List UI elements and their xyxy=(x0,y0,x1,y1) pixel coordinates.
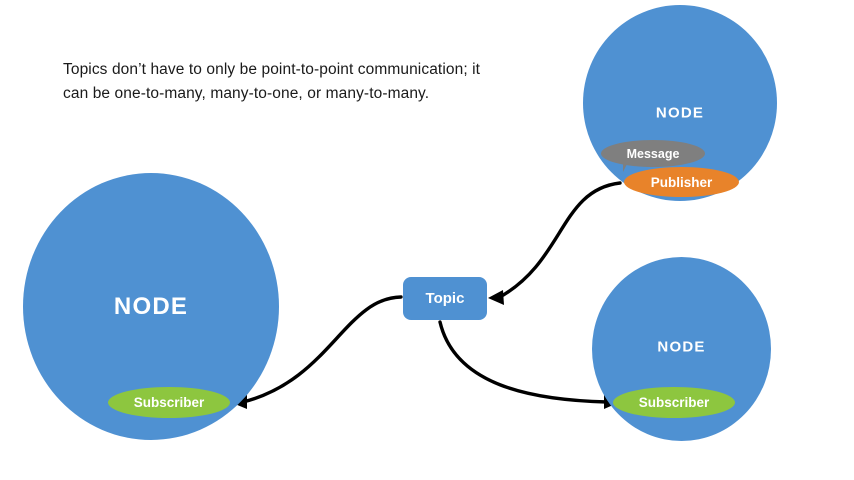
topic-label: Topic xyxy=(426,290,465,307)
subscriber-left-pill[interactable]: Subscriber xyxy=(108,387,230,418)
message-pill[interactable]: Message xyxy=(601,140,705,167)
arrow-publisher-to-topic xyxy=(488,183,620,305)
node-publisher-label: NODE xyxy=(656,104,704,121)
caption-line-1: Topics don’t have to only be point-to-po… xyxy=(63,58,483,82)
subscriber-right-label: Subscriber xyxy=(639,395,710,410)
slide-canvas: Topics don’t have to only be point-to-po… xyxy=(0,0,854,480)
message-label: Message xyxy=(627,147,680,161)
topic-box[interactable]: Topic xyxy=(403,277,487,320)
subscriber-right-pill[interactable]: Subscriber xyxy=(613,387,735,418)
node-left-label: NODE xyxy=(114,293,188,321)
publisher-pill[interactable]: Publisher xyxy=(624,167,739,197)
node-subscriber-right-label: NODE xyxy=(657,339,705,356)
publisher-label: Publisher xyxy=(651,175,713,190)
subscriber-left-label: Subscriber xyxy=(134,395,205,410)
caption-text: Topics don’t have to only be point-to-po… xyxy=(63,58,483,106)
caption-line-2: can be one-to-many, many-to-one, or many… xyxy=(63,82,483,106)
